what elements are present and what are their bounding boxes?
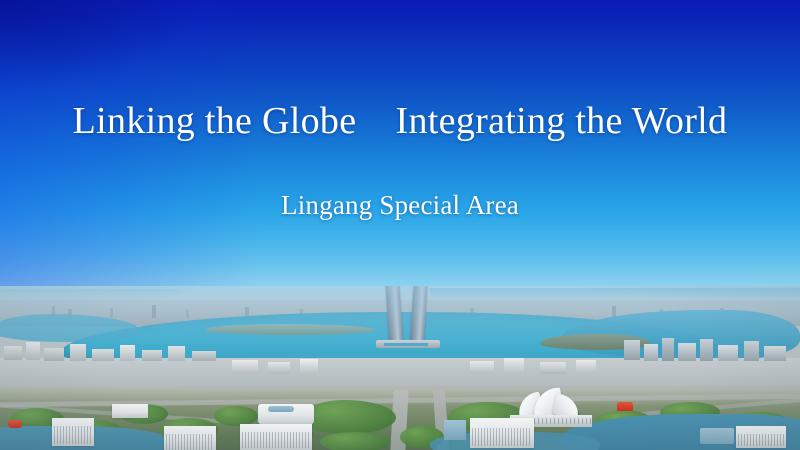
distant-building — [152, 305, 156, 318]
park-grove — [214, 406, 258, 426]
district-block — [192, 351, 216, 361]
district-block — [300, 359, 318, 374]
civic-building-glass-roof — [268, 406, 294, 412]
district-block — [700, 339, 713, 361]
district-block — [168, 346, 185, 361]
civic-building-windows — [242, 432, 310, 448]
district-block — [44, 348, 64, 361]
district-block — [232, 360, 258, 374]
district-block — [644, 344, 658, 361]
district-block — [92, 349, 114, 361]
twin-towers — [383, 286, 431, 342]
civic-building-windows — [738, 434, 784, 446]
distant-sea — [430, 288, 800, 297]
district-block — [142, 350, 162, 361]
district-block — [504, 358, 524, 374]
page-subtitle: Lingang Special Area — [0, 189, 800, 221]
distant-building — [110, 308, 113, 318]
civic-building-windows — [166, 434, 214, 450]
distant-building — [186, 310, 189, 318]
tower-left — [385, 286, 403, 342]
red-landmark-structure — [617, 402, 633, 411]
district-block — [540, 362, 566, 374]
screenshot-root: Linking the Globe Integrating the World … — [0, 0, 800, 450]
civic-building-windows — [54, 426, 92, 444]
distant-sea-left — [0, 289, 180, 296]
district-block — [120, 345, 135, 361]
civic-building — [112, 404, 148, 418]
district-block — [470, 361, 494, 374]
district-block — [268, 362, 290, 374]
district-block — [4, 346, 22, 360]
lake-shore-north — [205, 324, 375, 335]
district-block — [576, 360, 596, 374]
cross-avenue-upper — [180, 386, 800, 390]
office-glass-facade — [444, 420, 466, 440]
tower-right — [410, 286, 428, 342]
district-block — [662, 338, 674, 361]
park-grove — [320, 432, 390, 450]
district-block — [70, 344, 86, 361]
red-landmark-structure-left — [8, 420, 22, 428]
district-block — [26, 342, 40, 360]
office-glass-facade — [700, 428, 734, 444]
district-block — [624, 340, 640, 360]
sky-corner-shadow — [0, 0, 200, 90]
civic-building-windows — [472, 428, 532, 446]
aerial-cityscape-photo — [0, 286, 800, 450]
page-title: Linking the Globe Integrating the World — [0, 99, 800, 143]
district-block — [678, 343, 696, 361]
district-block — [764, 346, 786, 361]
tower-waterfront-pool — [384, 343, 428, 346]
district-block — [718, 345, 738, 361]
boulevard-median-park — [300, 400, 396, 434]
district-block — [744, 341, 759, 361]
